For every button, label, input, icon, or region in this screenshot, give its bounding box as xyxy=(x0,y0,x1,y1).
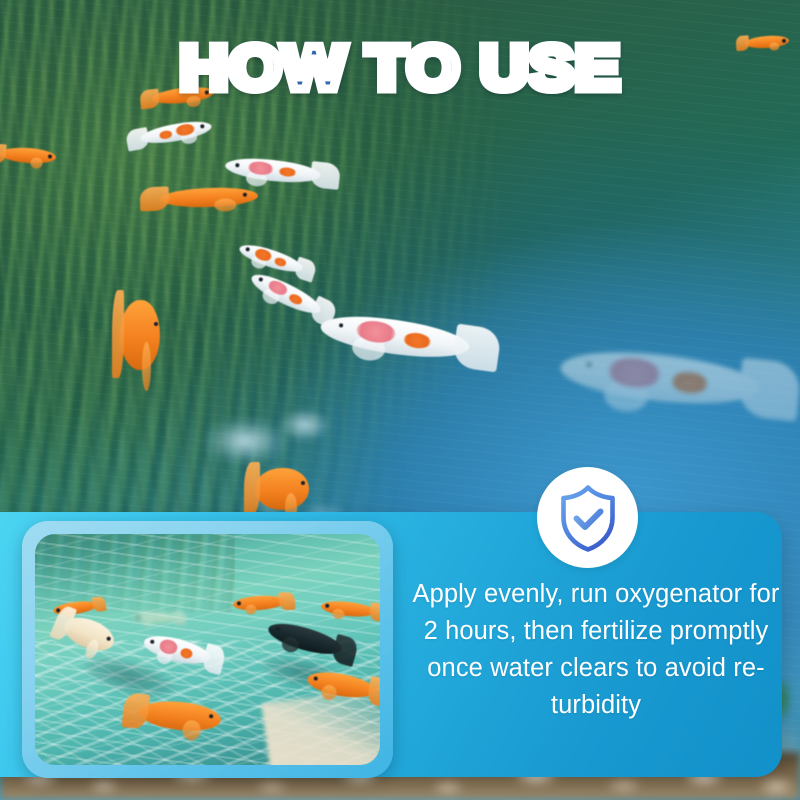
instruction-text: Apply evenly, run oxygenator for 2 hours… xyxy=(412,576,780,724)
koi-eye xyxy=(301,481,305,485)
koi-tail xyxy=(112,290,124,378)
koi-eye xyxy=(154,322,158,326)
koi-tail xyxy=(173,611,186,625)
koi-fish xyxy=(255,468,309,510)
shield-check-badge xyxy=(537,467,638,568)
koi-fin xyxy=(142,342,151,391)
koi-tail xyxy=(278,592,295,611)
koi-body xyxy=(120,300,160,370)
koi-fish xyxy=(133,611,177,624)
infographic-canvas: HOW TO USE xyxy=(0,0,800,800)
koi-body xyxy=(255,468,309,510)
koi-tail xyxy=(0,143,7,163)
koi-tail xyxy=(244,462,260,515)
shield-check-icon xyxy=(554,483,622,553)
koi-tail xyxy=(140,186,170,211)
koi-tail xyxy=(736,35,750,51)
koi-fish xyxy=(160,186,259,208)
koi-body xyxy=(160,186,259,208)
koi-fish xyxy=(120,300,160,370)
inset-clear-water-photo xyxy=(35,534,380,765)
inset-photo-card xyxy=(22,521,393,778)
